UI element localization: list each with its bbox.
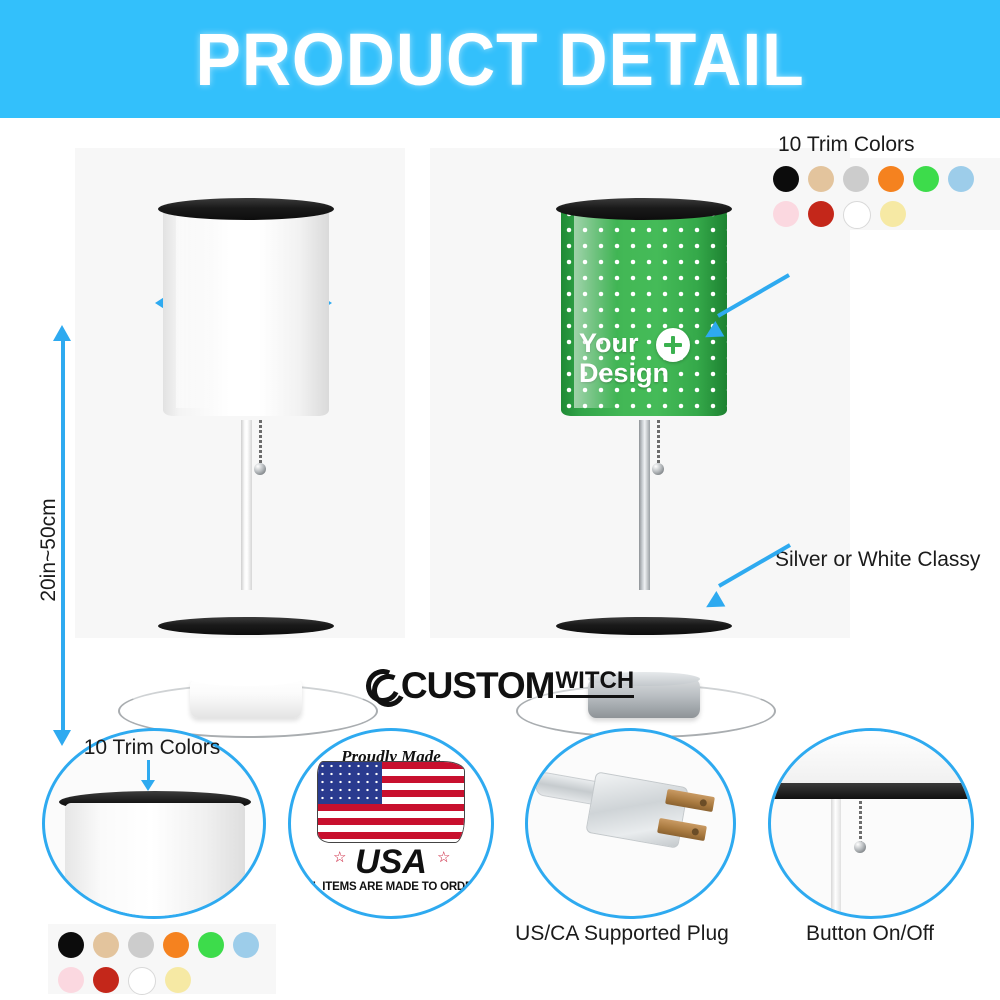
trim-swatch-gray[interactable] bbox=[843, 166, 869, 192]
pull-chain-icon bbox=[657, 420, 660, 465]
page-header-banner: PRODUCT DETAIL bbox=[0, 0, 1000, 118]
your-design-line1: Your bbox=[579, 328, 714, 358]
trim-swatch-orange[interactable] bbox=[878, 166, 904, 192]
brand-name-secondary-wrap: WITCH bbox=[556, 669, 635, 698]
shade-surface bbox=[163, 206, 329, 416]
base-finish-arrow bbox=[695, 558, 805, 618]
feature-caption-plug: US/CA Supported Plug bbox=[497, 922, 747, 946]
down-arrow-line bbox=[147, 760, 150, 782]
mini-lamp-pole bbox=[831, 799, 841, 916]
feature-trim-colors: 10 Trim Colors bbox=[30, 728, 270, 1000]
lamp-white-blank bbox=[163, 206, 339, 626]
made-in-usa-circle: Proudly Made in the ☆ USA ☆ ALL ITEMS AR… bbox=[288, 728, 494, 919]
height-dimension-label: 20in~50cm bbox=[37, 475, 61, 625]
lamp-pole-white bbox=[241, 420, 252, 590]
brand-logo: CUSTOM WITCH bbox=[0, 662, 1000, 710]
down-arrow-icon bbox=[141, 780, 155, 791]
star-right-icon: ☆ bbox=[437, 848, 450, 866]
trim-swatch-yellow[interactable] bbox=[165, 967, 191, 993]
trim-swatch-pink[interactable] bbox=[58, 967, 84, 993]
feature-switch: Button On/Off bbox=[760, 728, 1000, 958]
trim-color-swatches-bottom bbox=[58, 932, 290, 995]
trim-swatch-red[interactable] bbox=[93, 967, 119, 993]
plus-circle-icon bbox=[656, 328, 690, 362]
your-design-text: Your Design bbox=[579, 328, 714, 388]
trim-swatch-white[interactable] bbox=[128, 967, 156, 995]
brand-name-primary: CUSTOM bbox=[401, 665, 555, 707]
pull-chain-icon bbox=[259, 420, 262, 465]
your-design-line2: Design bbox=[579, 358, 714, 388]
feature-caption-trim-colors: 10 Trim Colors bbox=[52, 736, 252, 760]
mini-shade-trim-icon bbox=[771, 783, 971, 799]
trim-swatch-light-blue[interactable] bbox=[948, 166, 974, 192]
plug-circle bbox=[525, 728, 736, 919]
trim-swatch-pink[interactable] bbox=[773, 201, 799, 227]
trim-swatch-orange[interactable] bbox=[163, 932, 189, 958]
pull-chain-bead-icon bbox=[652, 463, 664, 475]
brand-underline bbox=[556, 695, 635, 698]
trim-swatch-white[interactable] bbox=[843, 201, 871, 229]
mini-shade-body bbox=[65, 803, 245, 918]
trim-swatch-black[interactable] bbox=[58, 932, 84, 958]
shade-trim-top bbox=[158, 198, 334, 220]
mini-shade-underside bbox=[771, 731, 971, 789]
height-arrow-up-icon bbox=[53, 325, 71, 341]
brand-name-secondary: WITCH bbox=[556, 669, 635, 693]
shade-trim-top bbox=[556, 198, 732, 220]
product-detail-page: PRODUCT DETAIL 7in~18cm 20in~50cm bbox=[0, 0, 1000, 1000]
pull-chain-bead-icon bbox=[254, 463, 266, 475]
usa-badge-subtext: ALL ITEMS ARE MADE TO ORDER! bbox=[291, 881, 491, 893]
trim-swatch-tan[interactable] bbox=[808, 166, 834, 192]
lamp-pole-silver bbox=[639, 420, 650, 590]
shade-trim-bottom bbox=[556, 617, 732, 635]
trim-swatch-light-blue[interactable] bbox=[233, 932, 259, 958]
power-plug-icon bbox=[585, 771, 688, 848]
feature-caption-switch: Button On/Off bbox=[770, 922, 970, 946]
lamp-shade-white bbox=[163, 206, 329, 416]
trim-swatch-green[interactable] bbox=[913, 166, 939, 192]
feature-plug: US/CA Supported Plug bbox=[515, 728, 765, 958]
pull-chain-bead-icon bbox=[854, 841, 866, 853]
double-c-icon bbox=[366, 669, 400, 703]
base-finish-label: Silver or White Classy bbox=[775, 548, 980, 572]
pull-chain-icon bbox=[859, 801, 862, 843]
product-showcase: 7in~18cm 20in~50cm bbox=[0, 118, 1000, 658]
trim-swatch-black[interactable] bbox=[773, 166, 799, 192]
shade-trim-bottom bbox=[158, 617, 334, 635]
feature-made-in-usa: Proudly Made in the ☆ USA ☆ ALL ITEMS AR… bbox=[288, 728, 508, 928]
trim-swatch-gray[interactable] bbox=[128, 932, 154, 958]
trim-color-swatches-top bbox=[773, 166, 1000, 229]
trim-colors-label-top: 10 Trim Colors bbox=[778, 133, 915, 157]
trim-swatch-green[interactable] bbox=[198, 932, 224, 958]
switch-circle bbox=[768, 728, 974, 919]
trim-swatch-tan[interactable] bbox=[93, 932, 119, 958]
usa-flag-map-icon bbox=[317, 761, 465, 843]
page-title: PRODUCT DETAIL bbox=[195, 17, 804, 102]
trim-swatch-yellow[interactable] bbox=[880, 201, 906, 227]
trim-callout-arrow-top bbox=[700, 288, 800, 348]
trim-swatch-red[interactable] bbox=[808, 201, 834, 227]
usa-badge-word: USA bbox=[291, 843, 491, 882]
